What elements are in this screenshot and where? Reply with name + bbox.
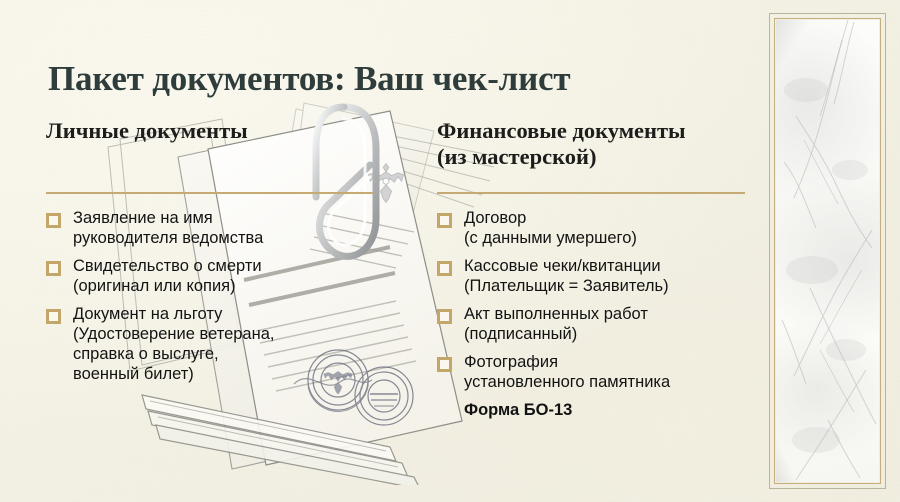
column-heading-personal: Личные документы <box>46 118 376 144</box>
list-item[interactable]: Заявление на имя руководителя ведомства <box>46 208 376 248</box>
checkbox-icon[interactable] <box>46 261 61 276</box>
list-item-label: Фотография установленного памятника <box>464 352 670 392</box>
checklist-financial: Договор (с данными умершего) Кассовые че… <box>437 208 747 420</box>
list-item[interactable]: Документ на льготу (Удостоверение ветера… <box>46 304 376 384</box>
checklist-personal: Заявление на имя руководителя ведомства … <box>46 208 376 392</box>
page-title: Пакет документов: Ваш чек-лист <box>48 59 570 99</box>
column-heading-financial: Финансовые документы (из мастерской) <box>437 118 747 170</box>
list-item[interactable]: Акт выполненных работ (подписанный) <box>437 304 747 344</box>
checkbox-icon[interactable] <box>437 261 452 276</box>
list-item[interactable]: Свидетельство о смерти (оригинал или коп… <box>46 256 376 296</box>
list-item-label: Кассовые чеки/квитанции (Плательщик = За… <box>464 256 669 296</box>
checkbox-icon[interactable] <box>437 357 452 372</box>
slide-root: Пакет документов: Ваш чек-лист Личные до… <box>0 0 900 502</box>
list-item[interactable]: Фотография установленного памятника <box>437 352 747 392</box>
checkbox-icon[interactable] <box>46 213 61 228</box>
marble-texture <box>776 20 879 482</box>
form-code-label: Форма БО-13 <box>464 400 747 420</box>
checkbox-icon[interactable] <box>437 309 452 324</box>
column-personal-documents: Личные документы Заявление на имя руково… <box>46 118 376 144</box>
checkbox-icon[interactable] <box>437 213 452 228</box>
list-item-label: Документ на льготу (Удостоверение ветера… <box>73 304 274 384</box>
list-item[interactable]: Кассовые чеки/квитанции (Плательщик = За… <box>437 256 747 296</box>
list-item-label: Заявление на имя руководителя ведомства <box>73 208 263 248</box>
column-financial-documents: Финансовые документы (из мастерской) Дог… <box>437 118 747 170</box>
list-item-label: Акт выполненных работ (подписанный) <box>464 304 648 344</box>
marble-decor-panel <box>755 0 900 502</box>
checkbox-icon[interactable] <box>46 309 61 324</box>
list-item[interactable]: Договор (с данными умершего) <box>437 208 747 248</box>
list-footnote: Форма БО-13 <box>437 400 747 420</box>
list-item-label: Договор (с данными умершего) <box>464 208 637 248</box>
marble-veins <box>776 20 879 482</box>
column-divider-financial <box>437 192 745 194</box>
column-divider-personal <box>46 192 374 194</box>
list-item-label: Свидетельство о смерти (оригинал или коп… <box>73 256 262 296</box>
